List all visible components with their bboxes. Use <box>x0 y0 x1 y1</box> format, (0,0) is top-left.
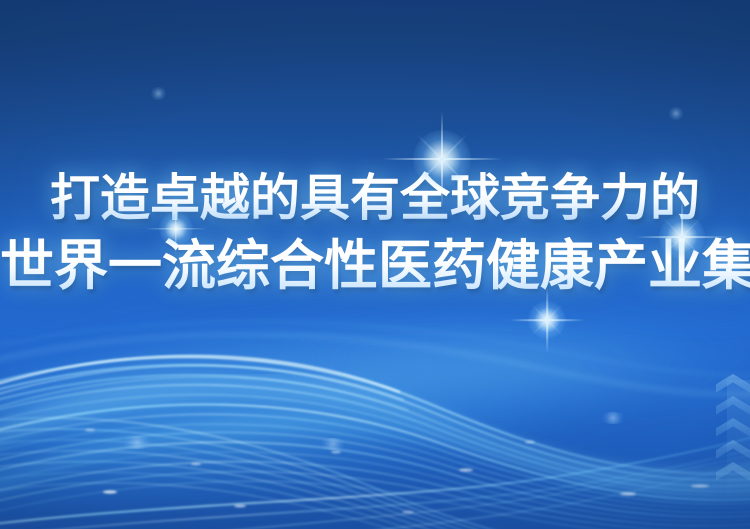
chevron-stack-decoration <box>710 370 750 500</box>
headline-line-2: 世界一流综合性医药健康产业集团 <box>0 236 750 296</box>
headline-line-1: 打造卓越的具有全球竞争力的 <box>0 170 750 226</box>
promotional-banner: 打造卓越的具有全球竞争力的 世界一流综合性医药健康产业集团 <box>0 0 750 529</box>
headline-block: 打造卓越的具有全球竞争力的 世界一流综合性医药健康产业集团 <box>0 170 750 296</box>
